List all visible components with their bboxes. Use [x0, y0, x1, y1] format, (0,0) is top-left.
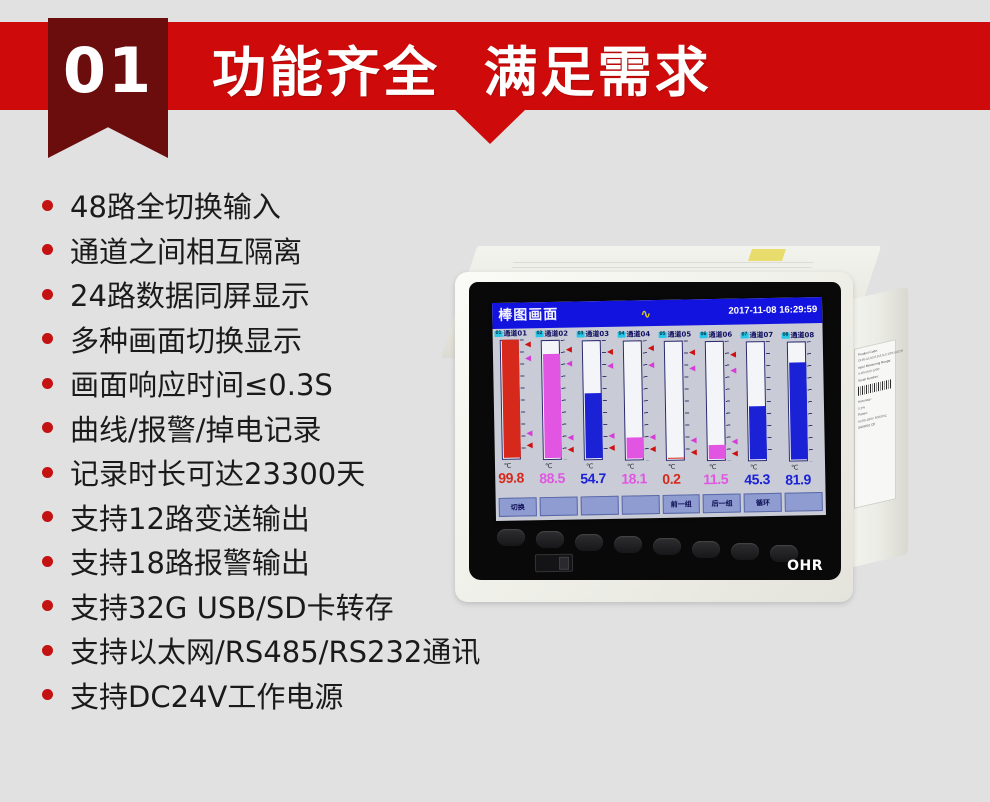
- bar-track: [500, 340, 521, 460]
- front-panel-button-2[interactable]: [536, 531, 564, 548]
- alarm-marker-icon: [527, 442, 533, 448]
- feature-label: 记录时长可达23300天: [70, 451, 365, 493]
- page-title: 功能齐全 满足需求: [212, 32, 712, 102]
- softkey-button-3[interactable]: [580, 496, 618, 516]
- bullet-icon: [42, 467, 53, 478]
- product-spec-label: Product Code: OHR-A1A0,8,8,8,N,C1/P1/U/C…: [854, 339, 896, 509]
- channel-badge: 06: [700, 332, 708, 338]
- alarm-marker-icon: [689, 365, 695, 371]
- alarm-marker-icon: [607, 363, 613, 369]
- feature-label: 画面响应时间≤0.3S: [70, 362, 333, 404]
- bar-gauge: [787, 341, 809, 461]
- channel-header: 04通道04: [618, 329, 658, 340]
- alarm-marker-icon: [649, 434, 655, 440]
- device-front-bezel: 棒图画面 ∿ 2017-11-08 16:29:59 01通道01℃99.802…: [455, 272, 853, 602]
- bar-track: [664, 341, 685, 461]
- feature-label: 支持32G USB/SD卡转存: [70, 585, 394, 627]
- bar-channel: 02通道02℃88.5: [535, 329, 579, 496]
- bar-track: [787, 341, 808, 461]
- alarm-marker-icon: [730, 352, 736, 358]
- bar-gauge: [582, 340, 604, 460]
- alarm-marker-icon: [567, 435, 573, 441]
- channel-unit: ℃: [791, 463, 798, 471]
- bar-ticks: [643, 340, 649, 460]
- bar-ticks: [766, 341, 772, 461]
- channel-badge: 02: [536, 331, 544, 337]
- alarm-marker-icon: [609, 445, 615, 451]
- bar-channel: 05通道05℃0.2: [658, 329, 702, 496]
- bar-track: [705, 341, 726, 461]
- bar-fill: [585, 394, 603, 459]
- bar-fill: [709, 445, 726, 459]
- bar-gauge: [500, 340, 522, 460]
- alarm-marker-icon: [566, 361, 572, 367]
- bullet-icon: [42, 333, 53, 344]
- feature-label: 曲线/报警/掉电记录: [70, 407, 322, 449]
- bar-channel: 06通道06℃11.5: [699, 330, 743, 497]
- bullet-icon: [42, 645, 53, 656]
- alarm-marker-icon: [526, 430, 532, 436]
- channel-header: 07通道07: [741, 330, 781, 341]
- bar-fill: [627, 437, 644, 459]
- channel-unit: ℃: [750, 463, 757, 471]
- bar-ticks: [602, 340, 608, 460]
- section-number-ribbon: 01: [48, 18, 168, 158]
- list-item: 48路全切换输入: [42, 183, 602, 228]
- bar-track: [541, 340, 562, 460]
- waveform-icon: ∿: [640, 307, 651, 322]
- channel-value: 11.5: [703, 471, 728, 487]
- alarm-marker-icon: [568, 447, 574, 453]
- bar-fill: [543, 353, 562, 458]
- feature-label: 支持DC24V工作电源: [70, 674, 343, 716]
- brand-logo: OHR: [787, 558, 823, 574]
- feature-label: 24路数据同屏显示: [70, 273, 310, 315]
- screen-title: 棒图画面: [498, 304, 558, 325]
- bullet-icon: [42, 422, 53, 433]
- bar-channel: 08通道08℃81.9: [781, 330, 825, 497]
- bar-track: [623, 340, 644, 460]
- bar-gauge: [705, 341, 727, 461]
- alarm-marker-icon: [691, 437, 697, 443]
- channel-unit: ℃: [709, 463, 716, 471]
- lcd-screen[interactable]: 棒图画面 ∿ 2017-11-08 16:29:59 01通道01℃99.802…: [492, 297, 826, 521]
- feature-label: 多种画面切换显示: [70, 318, 302, 360]
- alarm-marker-icon: [607, 349, 613, 355]
- channel-badge: 01: [495, 331, 503, 337]
- bar-ticks: [561, 340, 567, 460]
- alarm-marker-icon: [650, 446, 656, 452]
- bullet-icon: [42, 378, 53, 389]
- softkey-bar: 切换前一组后一组循环: [496, 489, 826, 521]
- channel-value: 0.2: [662, 471, 681, 487]
- channel-label: 通道07: [749, 330, 773, 340]
- channel-header: 03通道03: [577, 329, 617, 340]
- bar-track: [582, 340, 603, 460]
- bar-fill: [749, 406, 767, 460]
- bar-graph-area: 01通道01℃99.802通道02℃88.503通道03℃54.704通道04℃…: [493, 323, 826, 495]
- feature-label: 48路全切换输入: [70, 184, 281, 226]
- bar-fill: [668, 458, 685, 459]
- bullet-icon: [42, 511, 53, 522]
- front-panel-button-3[interactable]: [575, 534, 603, 551]
- bar-ticks: [684, 340, 690, 460]
- bar-gauge: [746, 341, 768, 461]
- bullet-icon: [42, 289, 53, 300]
- bullet-icon: [42, 689, 53, 700]
- list-item: 支持以太网/RS485/RS232通讯: [42, 628, 602, 673]
- alarm-marker-icon: [689, 349, 695, 355]
- section-number: 01: [63, 40, 153, 102]
- bar-gauge: [664, 341, 686, 461]
- front-panel-button-1[interactable]: [497, 529, 525, 546]
- channel-unit: ℃: [668, 463, 675, 471]
- channel-badge: 08: [782, 332, 790, 338]
- bar-channel: 07通道07℃45.3: [740, 330, 784, 497]
- channel-badge: 07: [741, 332, 749, 338]
- channel-value: 99.8: [498, 469, 524, 485]
- channel-label: 通道06: [708, 330, 732, 340]
- bullet-icon: [42, 244, 53, 255]
- alarm-marker-icon: [648, 345, 654, 351]
- alarm-marker-icon: [730, 368, 736, 374]
- front-panel-button-5[interactable]: [653, 538, 681, 555]
- channel-label: 通道08: [790, 330, 814, 340]
- feature-label: 支持以太网/RS485/RS232通讯: [70, 629, 480, 671]
- header-banner: 01 功能齐全 满足需求: [0, 22, 990, 132]
- alarm-marker-icon: [732, 450, 738, 456]
- front-panel-button-7[interactable]: [731, 543, 759, 560]
- channel-value: 45.3: [744, 471, 770, 487]
- softkey-button-2[interactable]: [539, 497, 577, 517]
- softkey-button-8[interactable]: [785, 492, 823, 512]
- alarm-marker-icon: [691, 449, 697, 455]
- channel-label: 通道04: [626, 329, 650, 339]
- bar-gauge: [623, 340, 645, 460]
- usb-sd-port-icon[interactable]: [535, 554, 573, 573]
- bar-channel: 03通道03℃54.7: [576, 329, 620, 496]
- feature-label: 通道之间相互隔离: [70, 229, 302, 271]
- channel-label: 通道01: [503, 328, 527, 338]
- channel-header: 02通道02: [536, 329, 576, 340]
- channel-unit: ℃: [627, 462, 634, 470]
- list-item: 支持DC24V工作电源: [42, 673, 602, 718]
- bar-track: [746, 341, 767, 461]
- alarm-marker-icon: [732, 438, 738, 444]
- channel-label: 通道03: [585, 329, 609, 339]
- bullet-icon: [42, 600, 53, 611]
- channel-header: 05通道05: [659, 329, 699, 340]
- channel-badge: 03: [577, 331, 585, 337]
- device-illustration: Product Code: OHR-A1A0,8,8,8,N,C1/P1/U/C…: [447, 246, 867, 626]
- bullet-icon: [42, 556, 53, 567]
- device-sticker: [748, 249, 786, 261]
- bar-gauge: [541, 340, 563, 460]
- channel-value: 18.1: [621, 470, 647, 486]
- screen-timestamp: 2017-11-08 16:29:59: [728, 304, 817, 317]
- front-panel-button-4[interactable]: [614, 536, 642, 553]
- bar-ticks: [725, 341, 731, 461]
- channel-badge: 05: [659, 332, 667, 338]
- channel-label: 通道05: [667, 329, 691, 339]
- channel-header: 06通道06: [700, 330, 740, 341]
- bar-channel: 01通道01℃99.8: [494, 328, 538, 495]
- softkey-button-7[interactable]: 循环: [744, 493, 782, 513]
- channel-header: 01通道01: [495, 328, 535, 339]
- front-panel-button-6[interactable]: [692, 541, 720, 558]
- feature-label: 支持12路变送输出: [70, 496, 310, 538]
- bar-fill: [789, 363, 808, 460]
- banner-notch: [455, 110, 525, 144]
- bullet-icon: [42, 200, 53, 211]
- device-faceplate: 棒图画面 ∿ 2017-11-08 16:29:59 01通道01℃99.802…: [469, 282, 841, 580]
- alarm-marker-icon: [566, 346, 572, 352]
- softkey-button-1[interactable]: 切换: [499, 497, 537, 517]
- channel-badge: 04: [618, 331, 626, 337]
- channel-unit: ℃: [504, 462, 511, 470]
- softkey-button-5[interactable]: 前一组: [662, 494, 700, 514]
- channel-header: 08通道08: [782, 330, 822, 341]
- feature-label: 支持18路报警输出: [70, 540, 310, 582]
- alarm-marker-icon: [608, 433, 614, 439]
- channel-value: 54.7: [580, 470, 606, 486]
- channel-unit: ℃: [586, 462, 593, 470]
- alarm-marker-icon: [525, 356, 531, 362]
- softkey-button-6[interactable]: 后一组: [703, 494, 741, 514]
- bar-channel: 04通道04℃18.1: [617, 329, 661, 496]
- channel-label: 通道02: [544, 329, 568, 339]
- bar-fill: [502, 340, 521, 458]
- softkey-button-4[interactable]: [621, 495, 659, 515]
- channel-value: 81.9: [785, 471, 811, 487]
- bar-ticks: [807, 341, 813, 461]
- channel-value: 88.5: [539, 470, 565, 486]
- alarm-marker-icon: [648, 362, 654, 368]
- alarm-marker-icon: [525, 341, 531, 347]
- channel-unit: ℃: [545, 462, 552, 470]
